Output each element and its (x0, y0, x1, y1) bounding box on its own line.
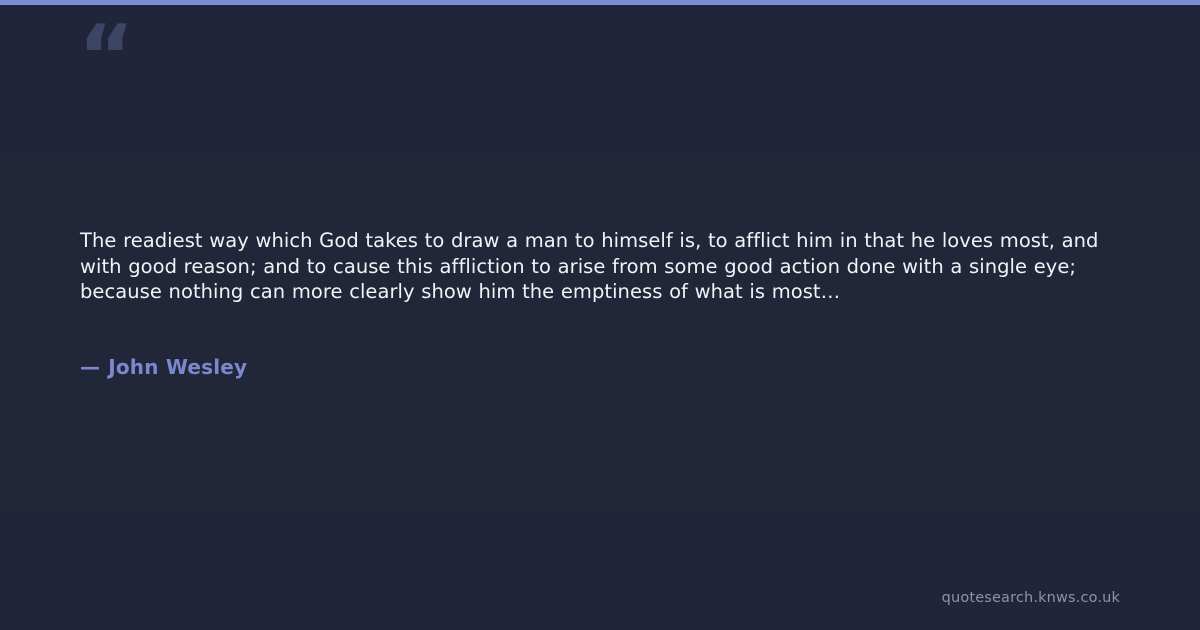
quote-card: “ The readiest way which God takes to dr… (0, 0, 1200, 630)
quote-author: —John Wesley (80, 355, 247, 379)
author-dash: — (80, 355, 100, 379)
quote-text: The readiest way which God takes to draw… (80, 228, 1120, 305)
quotation-mark-icon: “ (78, 14, 133, 100)
quote-body: The readiest way which God takes to draw… (80, 228, 1120, 305)
site-url: quotesearch.knws.co.uk (942, 590, 1120, 606)
author-name: John Wesley (108, 355, 247, 379)
